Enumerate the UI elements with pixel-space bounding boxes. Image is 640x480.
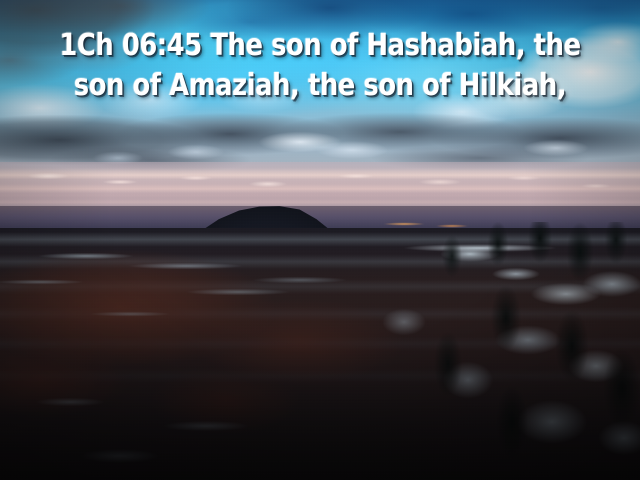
vignette-overlay xyxy=(0,0,640,480)
scripture-image: 1Ch 06:45 The son of Hashabiah, the son … xyxy=(0,0,640,480)
